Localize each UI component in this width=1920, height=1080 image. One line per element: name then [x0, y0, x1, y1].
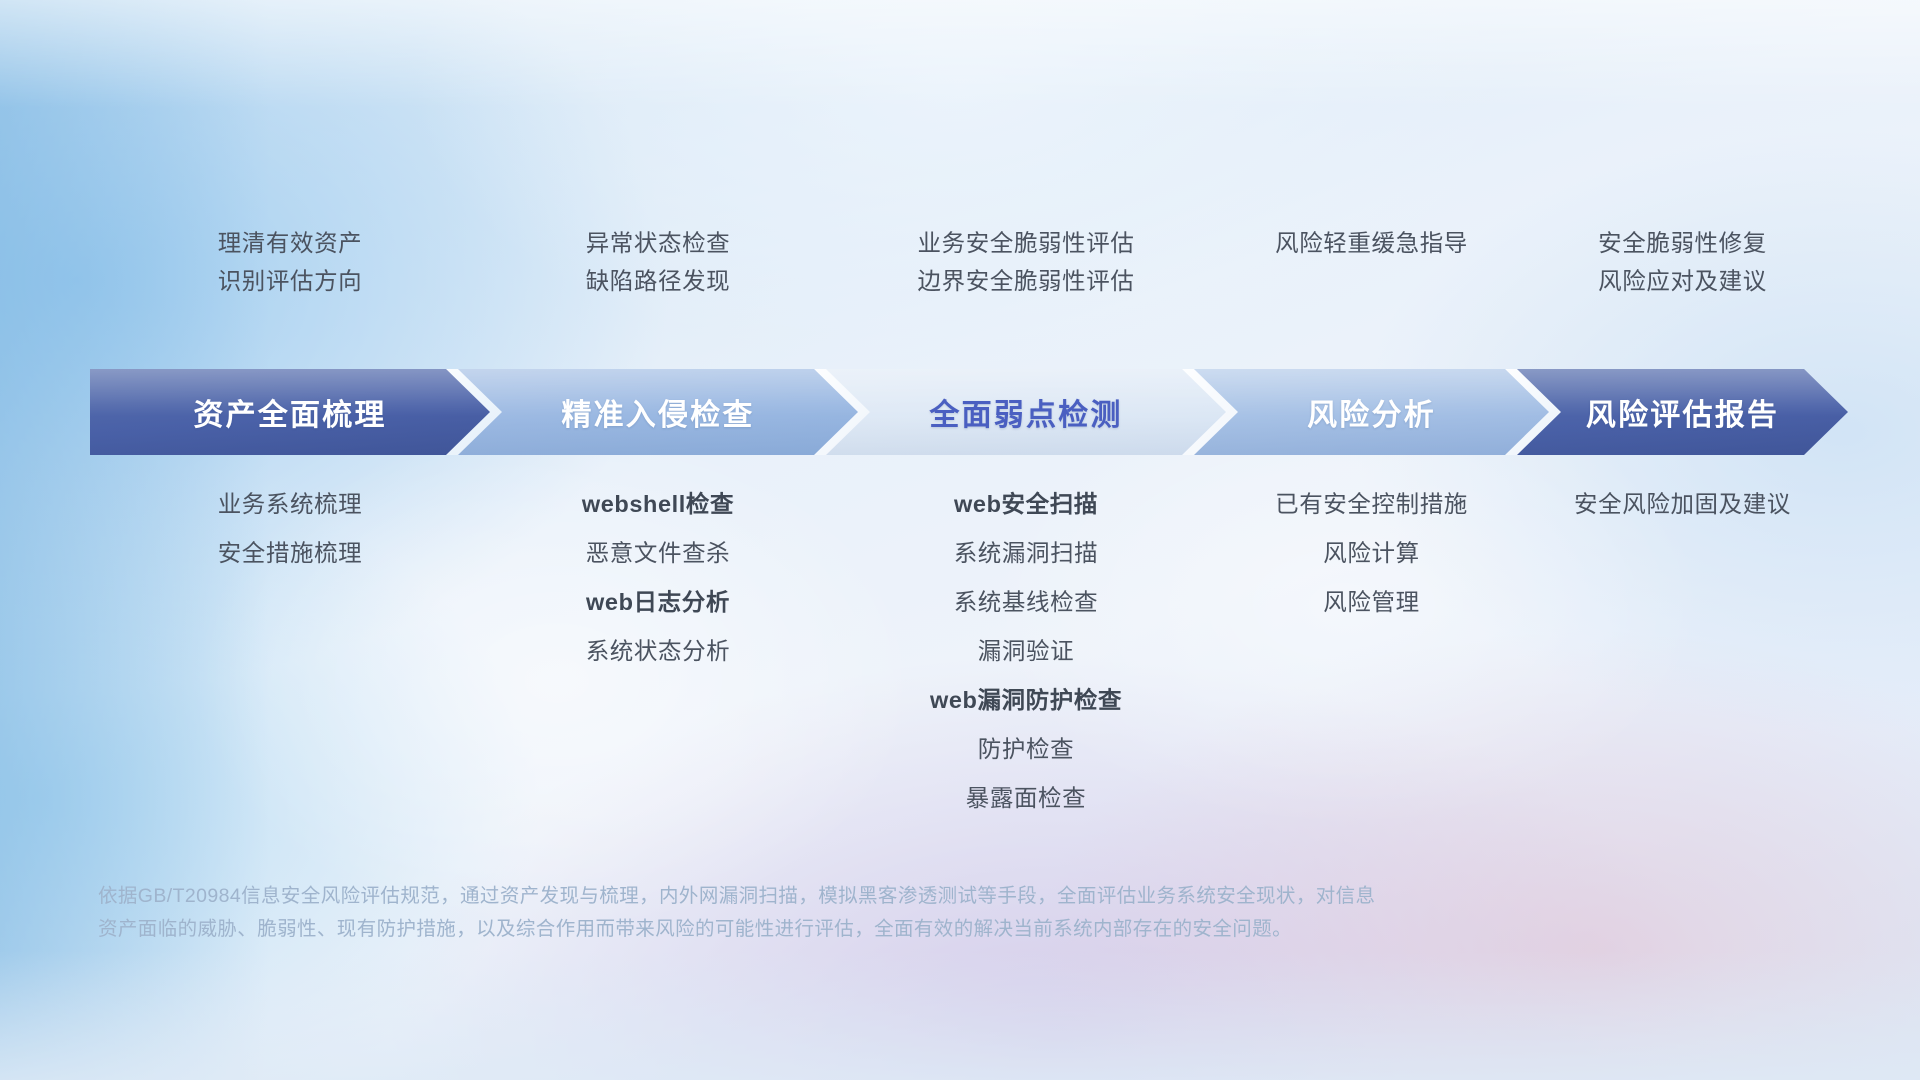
stage-chevron-risk-report[interactable]: 风险评估报告: [1517, 369, 1848, 455]
stage-chevron-risk-analysis[interactable]: 风险分析: [1194, 369, 1549, 455]
stage-top-label: 边界安全脆弱性评估: [918, 270, 1135, 294]
stage-top-label: 异常状态检查: [586, 232, 731, 256]
stage-title: 精准入侵检查: [561, 390, 754, 434]
stage-bottom-item: web漏洞防护检查: [930, 676, 1122, 725]
footer-line-2: 资产面临的威胁、脆弱性、现有防护措施，以及综合作用而带来风险的可能性进行评估，全…: [98, 913, 1658, 946]
process-diagram: 理清有效资产识别评估方向异常状态检查缺陷路径发现业务安全脆弱性评估边界安全脆弱性…: [0, 0, 1920, 1080]
stage-top-label: 缺陷路径发现: [586, 270, 731, 294]
stage-bottom-item: 恶意文件查杀: [586, 529, 731, 578]
stage-title: 全面弱点检测: [929, 390, 1122, 434]
stage-top-label: 安全脆弱性修复: [1598, 232, 1767, 256]
stage-top-label: 识别评估方向: [218, 270, 363, 294]
stage-title: 资产全面梳理: [193, 390, 386, 434]
stage-bottom-list-risk-report: 安全风险加固及建议: [1383, 480, 1920, 529]
stage-top-labels-risk-report: 安全脆弱性修复风险应对及建议: [1383, 232, 1920, 293]
footer-description: 依据GB/T20984信息安全风险评估规范，通过资产发现与梳理，内外网漏洞扫描，…: [98, 880, 1658, 946]
stage-bottom-item: 防护检查: [978, 725, 1074, 774]
stage-bottom-item: 风险管理: [1323, 578, 1419, 627]
stage-chevron-band: 资产全面梳理精准入侵检查全面弱点检测风险分析风险评估报告: [90, 369, 1848, 455]
stage-chevron-weakness-detection[interactable]: 全面弱点检测: [826, 369, 1226, 455]
stage-bottom-item: 漏洞验证: [978, 627, 1074, 676]
stage-chevron-asset-inventory[interactable]: 资产全面梳理: [90, 369, 490, 455]
stage-bottom-item: 系统状态分析: [586, 627, 731, 676]
stage-bottom-item: web日志分析: [586, 578, 730, 627]
stage-bottom-item: 安全措施梳理: [218, 529, 363, 578]
stage-top-label: 理清有效资产: [218, 232, 363, 256]
stage-title: 风险分析: [1307, 390, 1436, 434]
stage-bottom-item: 风险计算: [1323, 529, 1419, 578]
stage-chevron-intrusion-check[interactable]: 精准入侵检查: [458, 369, 858, 455]
footer-line-1: 依据GB/T20984信息安全风险评估规范，通过资产发现与梳理，内外网漏洞扫描，…: [98, 880, 1658, 913]
stage-bottom-item: 业务系统梳理: [218, 480, 363, 529]
stage-bottom-item: 暴露面检查: [966, 774, 1087, 823]
stage-title: 风险评估报告: [1586, 390, 1779, 434]
stage-top-labels-row: 理清有效资产识别评估方向异常状态检查缺陷路径发现业务安全脆弱性评估边界安全脆弱性…: [0, 232, 1920, 324]
stage-bottom-item: 安全风险加固及建议: [1574, 480, 1791, 529]
stage-bottom-item: webshell检查: [582, 480, 734, 529]
stage-top-label: 风险应对及建议: [1598, 270, 1767, 294]
